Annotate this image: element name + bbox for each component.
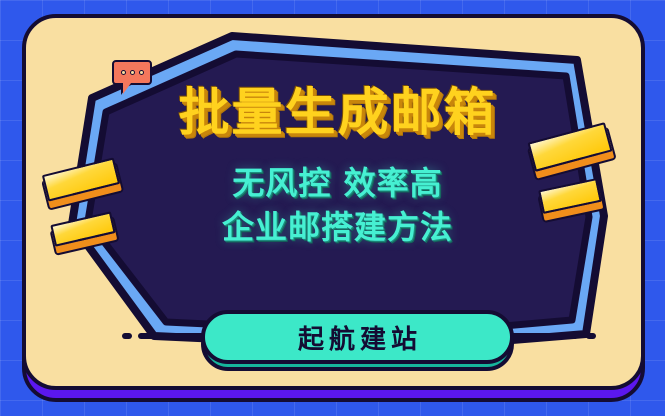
speech-bubble-icon xyxy=(112,60,152,92)
speech-bubble-tail-icon xyxy=(123,83,131,94)
poster-canvas: 批量生成邮箱 无风控 效率高 企业邮搭建方法 起航建站 xyxy=(0,0,665,416)
dot-icon xyxy=(121,70,126,75)
dot-icon xyxy=(130,70,135,75)
gold-slab xyxy=(527,122,612,172)
rail-dot-icon xyxy=(122,333,132,339)
dashed-rail-left xyxy=(122,333,206,339)
cta-button[interactable]: 起航建站 xyxy=(201,310,514,364)
rail-dot-icon xyxy=(586,333,596,339)
rail-dash-icon xyxy=(138,333,206,339)
speech-bubble-body xyxy=(112,60,152,85)
gold-slab xyxy=(50,211,115,246)
gold-block-icon-right xyxy=(526,126,636,236)
cta-button-label: 起航建站 xyxy=(293,319,422,356)
rail-dash-icon xyxy=(510,333,578,339)
dashed-rail-right xyxy=(510,333,596,339)
poster-card: 批量生成邮箱 无风控 效率高 企业邮搭建方法 起航建站 xyxy=(22,14,645,390)
gold-slab xyxy=(538,178,602,214)
navy-badge-polygon-fill xyxy=(88,54,589,334)
gold-block-icon-left xyxy=(44,166,144,262)
dot-icon xyxy=(139,70,144,75)
